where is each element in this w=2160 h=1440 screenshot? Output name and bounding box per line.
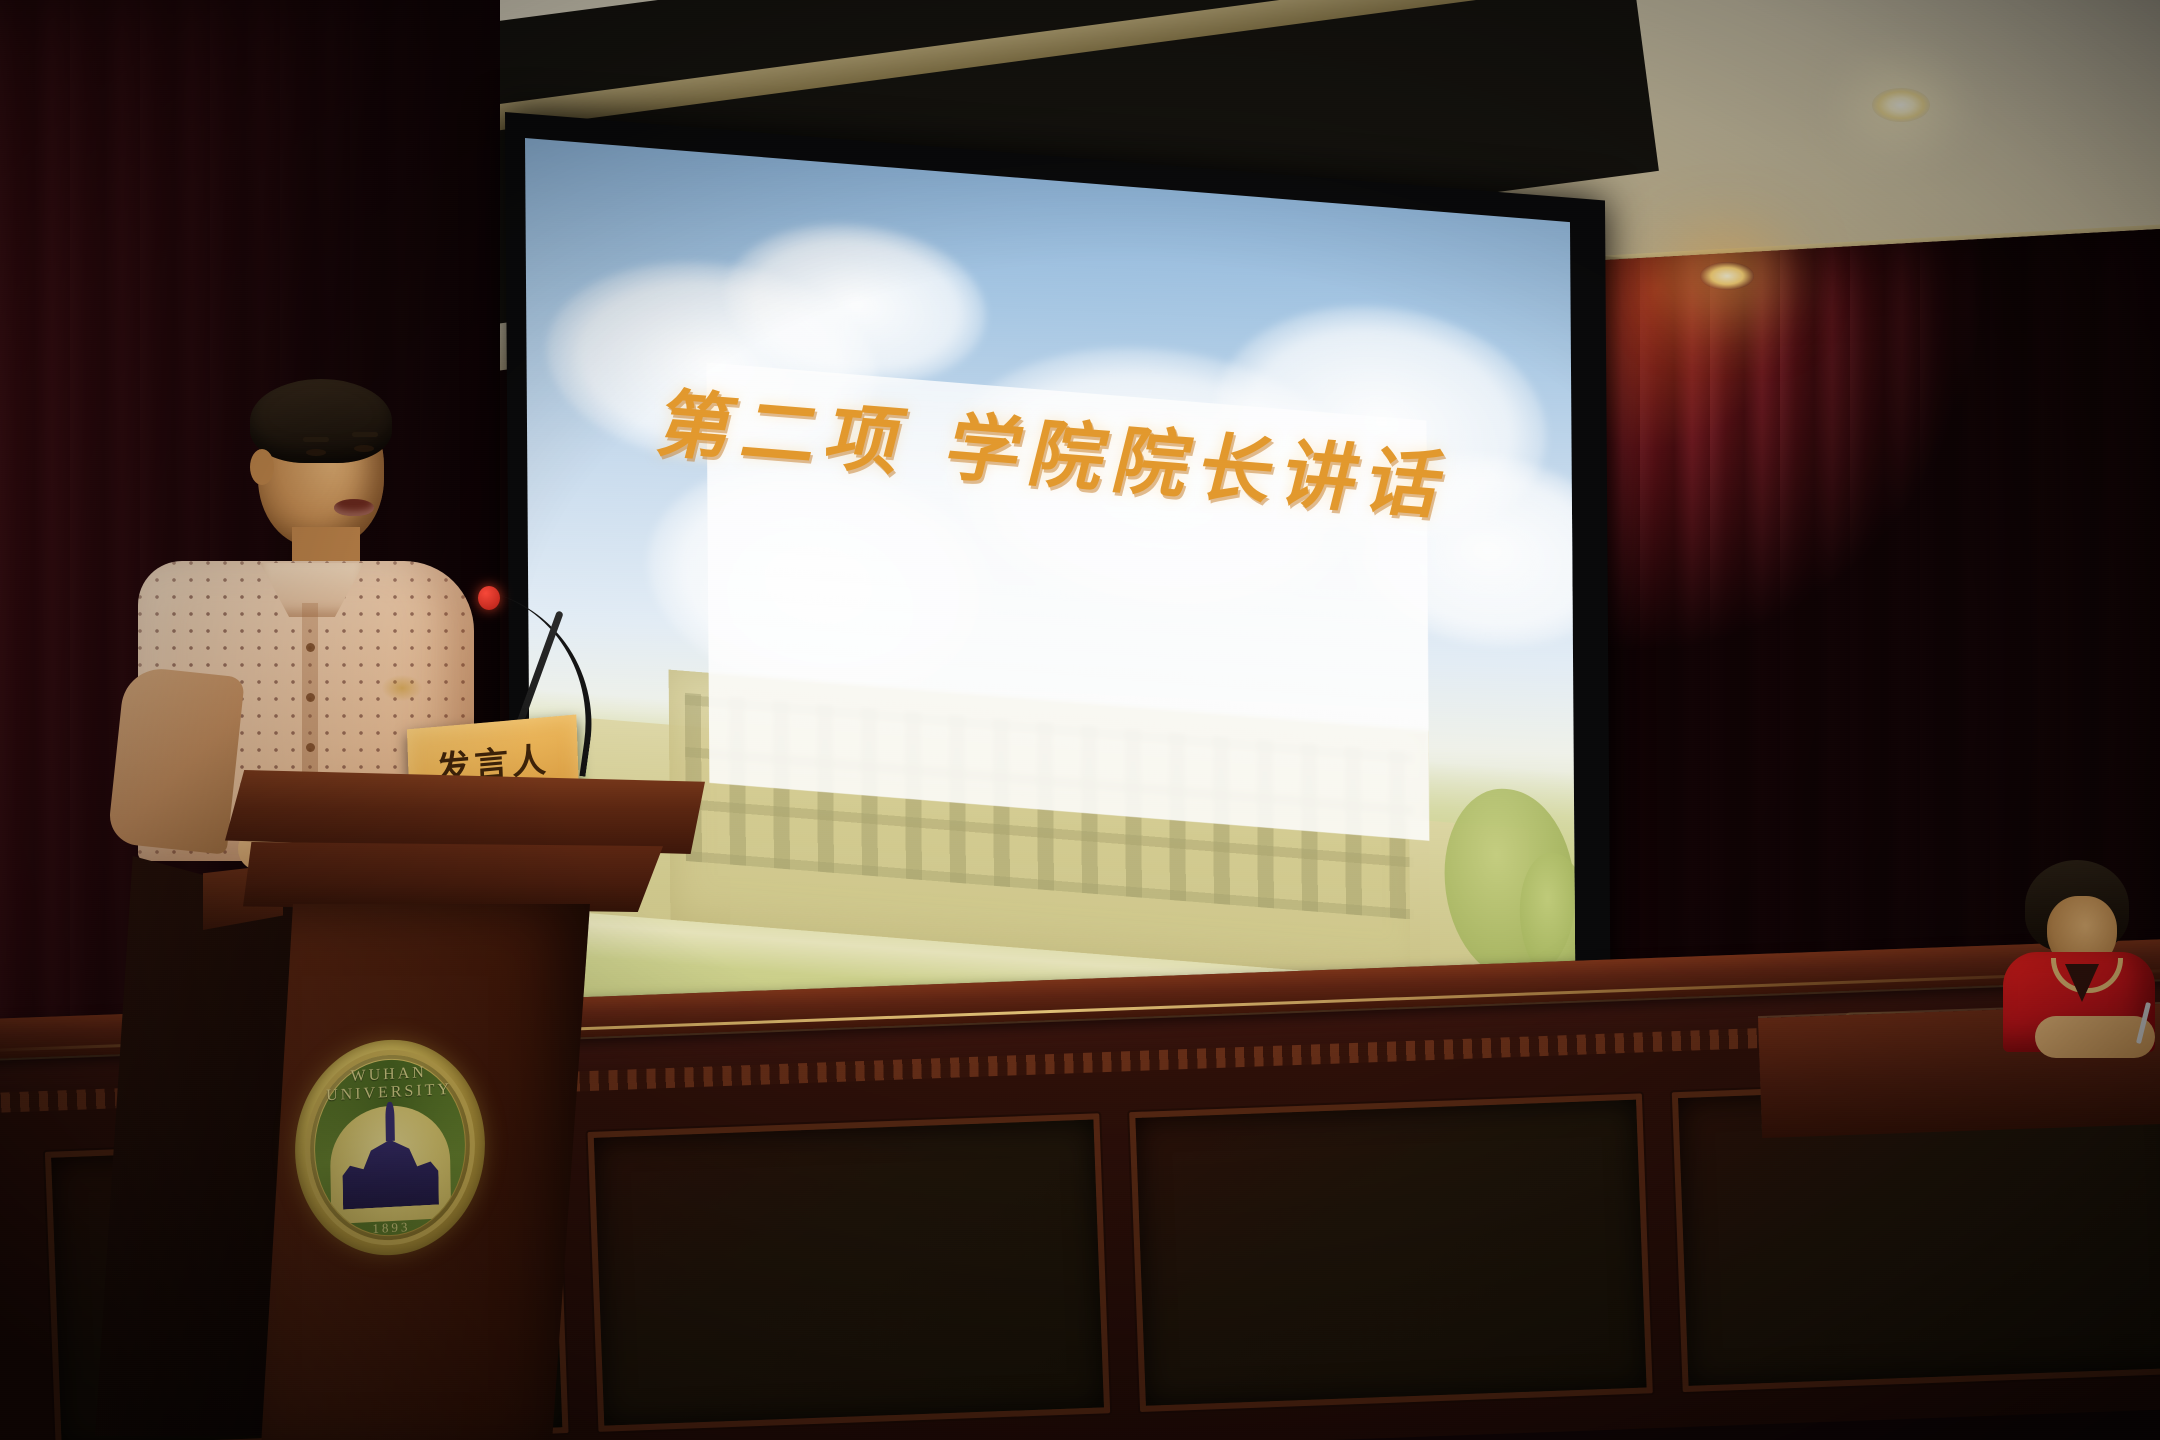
shirt-chest-logo xyxy=(382,675,422,701)
speaker-eyebrow xyxy=(352,432,378,437)
university-emblem: WUHAN UNIVERSITY 1893 xyxy=(293,1035,486,1260)
seated-attendee xyxy=(1995,860,2160,1040)
podium: WUHAN UNIVERSITY 1893 xyxy=(95,760,795,1440)
podium-apron xyxy=(243,842,663,912)
wall-accent-light-icon xyxy=(1700,262,1754,290)
shirt-button xyxy=(306,643,315,652)
shirt-button xyxy=(306,743,315,752)
auditorium-scene: 第二项 学院院长讲话 xyxy=(0,0,2160,1440)
apron-panel xyxy=(1129,1093,1652,1412)
speaker-mouth xyxy=(334,499,374,516)
speaker-eye xyxy=(306,449,326,456)
ceiling-downlight-icon xyxy=(1872,88,1930,122)
podium-desktop xyxy=(225,770,705,854)
speaker-eyebrow xyxy=(303,437,329,442)
shirt-button xyxy=(306,693,315,702)
microphone-indicator-icon xyxy=(478,586,500,610)
speaker-eye xyxy=(354,445,374,452)
emblem-pagoda-spire-icon xyxy=(385,1102,395,1141)
speaker-ear xyxy=(250,449,274,485)
